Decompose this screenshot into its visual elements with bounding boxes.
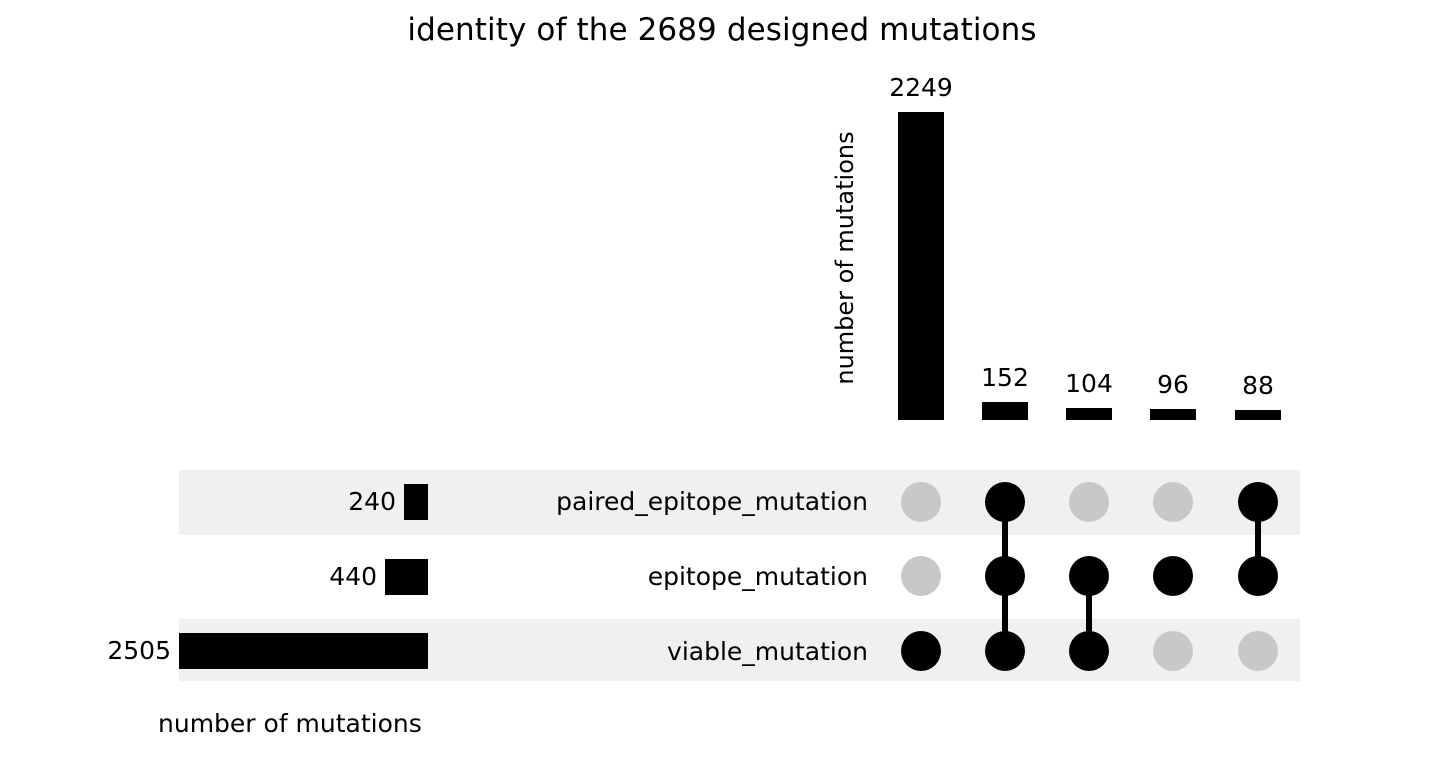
matrix-dot-col4-epitope-mutation[interactable] (1238, 556, 1278, 596)
set-size-bar-epitope-mutation[interactable] (385, 559, 428, 595)
intersection-bar-value-1: 152 (981, 364, 1029, 392)
intersection-bar-0[interactable] (898, 112, 944, 420)
matrix-dot-col1-epitope-mutation[interactable] (985, 556, 1025, 596)
matrix-dot-col0-epitope-mutation[interactable] (901, 556, 941, 596)
matrix-dot-col4-paired-epitope-mutation[interactable] (1238, 482, 1278, 522)
intersection-bar-1[interactable] (982, 402, 1028, 420)
matrix-dot-col4-viable-mutation[interactable] (1238, 631, 1278, 671)
intersection-bar-value-0: 2249 (889, 74, 953, 102)
matrix-dot-col2-paired-epitope-mutation[interactable] (1069, 482, 1109, 522)
intersection-bar-4[interactable] (1235, 410, 1281, 420)
matrix-dot-col0-paired-epitope-mutation[interactable] (901, 482, 941, 522)
intersection-bar-value-3: 96 (1157, 371, 1189, 399)
set-size-value-paired-epitope-mutation: 240 (244, 488, 396, 516)
matrix-dot-col2-epitope-mutation[interactable] (1069, 556, 1109, 596)
matrix-dot-col2-viable-mutation[interactable] (1069, 631, 1109, 671)
set-name-viable-mutation[interactable]: viable_mutation (667, 638, 868, 666)
set-size-axis-label: number of mutations (158, 710, 422, 738)
upset-plot: identity of the 2689 designed mutations … (0, 0, 1444, 777)
intersection-bar-3[interactable] (1150, 409, 1196, 420)
set-size-bar-paired-epitope-mutation[interactable] (404, 484, 428, 520)
matrix-dot-col0-viable-mutation[interactable] (901, 631, 941, 671)
intersection-bar-chart: 2249 152 104 96 88 (0, 0, 1444, 420)
matrix-dot-col3-epitope-mutation[interactable] (1153, 556, 1193, 596)
matrix-dot-col1-paired-epitope-mutation[interactable] (985, 482, 1025, 522)
intersection-bar-value-2: 104 (1065, 370, 1113, 398)
intersection-bar-value-4: 88 (1242, 372, 1274, 400)
set-name-paired-epitope-mutation[interactable]: paired_epitope_mutation (556, 488, 868, 516)
set-size-bar-viable-mutation[interactable] (179, 633, 428, 669)
set-size-value-viable-mutation: 2505 (19, 637, 171, 665)
set-size-value-epitope-mutation: 440 (225, 563, 377, 591)
matrix-dot-col1-viable-mutation[interactable] (985, 631, 1025, 671)
set-name-epitope-mutation[interactable]: epitope_mutation (648, 563, 868, 591)
intersection-bar-2[interactable] (1066, 408, 1112, 420)
matrix-dot-col3-viable-mutation[interactable] (1153, 631, 1193, 671)
matrix-dot-col3-paired-epitope-mutation[interactable] (1153, 482, 1193, 522)
